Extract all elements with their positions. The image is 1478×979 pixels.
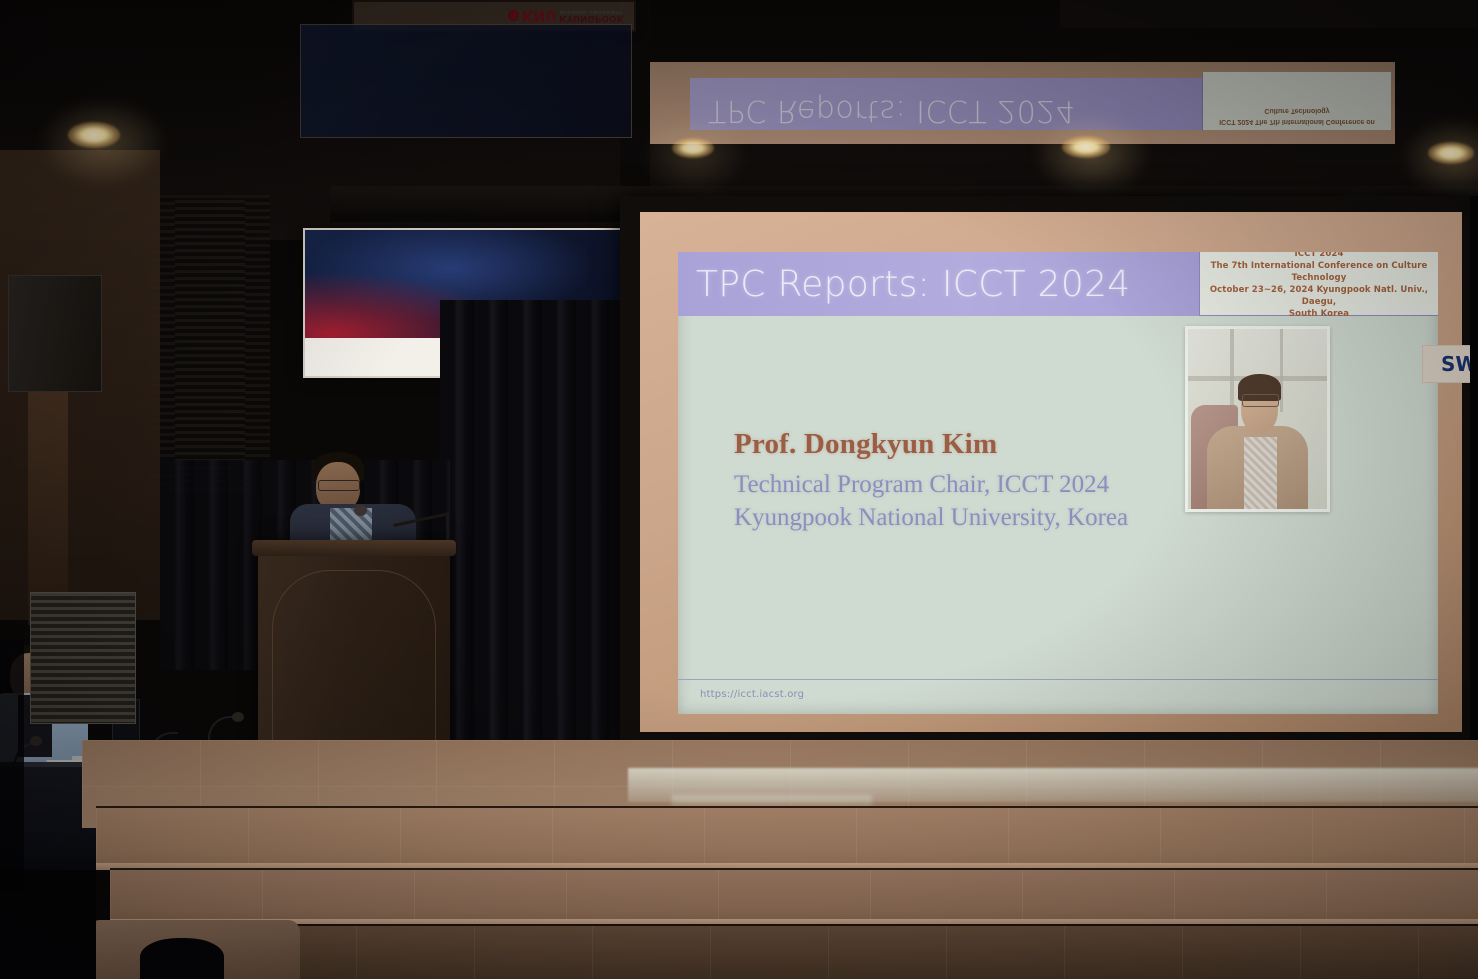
conf-line-3: Technology — [1292, 272, 1347, 284]
ceiling-spotlight-3 — [1062, 136, 1110, 158]
presenter-portrait-photo — [1185, 326, 1330, 512]
conf-line-1: ICCT 2024 — [1295, 252, 1344, 260]
reflection-conf-line-1: ICCT 2024 — [1219, 118, 1253, 125]
covered-equipment-opening — [140, 938, 224, 979]
wall-louver-left-inner — [175, 200, 245, 490]
knu-seal-icon — [508, 11, 519, 22]
conf-line-4: October 23~26, 2024 Kyungpook Natl. Univ… — [1203, 284, 1435, 308]
presentation-slide: TPC Reports: ICCT 2024 ICCT 2024 The 7th… — [678, 252, 1438, 714]
left-dark-edge — [0, 640, 24, 890]
stage-step-2 — [110, 868, 1478, 926]
stage-base-panel — [120, 924, 1478, 979]
ceiling-spotlight-2 — [672, 138, 714, 158]
step2-seams — [110, 870, 1478, 926]
slide-footer: https://icct.iacst.org — [678, 679, 1438, 714]
knu-line2-ceiling: NATIONAL UNIVERSITY — [560, 9, 624, 14]
slide-header: TPC Reports: ICCT 2024 ICCT 2024 The 7th… — [678, 252, 1438, 316]
presenter-name: Prof. Dongkyun Kim — [734, 428, 1128, 461]
conf-line-2: The 7th International Conference on Cult… — [1211, 260, 1428, 272]
conference-hall-photo: TPC Reports: ICCT 2024 ICCT 2024 The 7th… — [0, 0, 1478, 979]
presenter-role: Technical Program Chair, ICCT 2024 — [734, 468, 1128, 501]
slide-reflection: TPC Reports: ICCT 2024 ICCT 2024 The 7th… — [650, 62, 1395, 144]
slide-title: TPC Reports: ICCT 2024 — [678, 264, 1131, 305]
podium-top-surface — [252, 540, 456, 556]
reflection-conf-line-3: Technology — [1291, 107, 1330, 114]
panelist-mic-head-icon — [30, 736, 42, 746]
covered-equipment-foreground — [88, 920, 300, 979]
portrait-shirt — [1244, 437, 1277, 509]
step1-seams — [96, 808, 1478, 870]
slide-title-band: TPC Reports: ICCT 2024 — [678, 252, 1199, 316]
base-panel-seams — [120, 926, 1478, 979]
presenter-affiliation: Kyungpook National University, Korea — [734, 501, 1128, 534]
table-mic-head-icon-3 — [232, 712, 244, 722]
portrait-image — [1188, 329, 1327, 509]
ceiling-beam-top-right — [1060, 0, 1478, 28]
portrait-glasses-icon — [1242, 394, 1279, 407]
stage-curtain-left — [440, 300, 640, 762]
loudspeaker — [8, 275, 102, 392]
wood-pillar — [28, 385, 68, 625]
wall-right-edge — [1470, 196, 1478, 756]
ceiling-hanging-banner — [300, 24, 632, 138]
slide-conference-info: ICCT 2024 The 7th International Conferen… — [1199, 252, 1438, 316]
ceiling-spotlight-1 — [68, 122, 120, 148]
stage-step-1 — [96, 806, 1478, 870]
knu-line1-ceiling: KYUNGPOOK — [560, 14, 624, 23]
presenter-text-block: Prof. Dongkyun Kim Technical Program Cha… — [734, 428, 1128, 534]
equipment-rack — [30, 592, 136, 724]
microphone-head-icon — [354, 505, 367, 516]
ceiling-spotlight-4 — [1428, 142, 1474, 164]
speaker-glasses-icon — [318, 480, 360, 491]
slide-footer-url: https://icct.iacst.org — [678, 680, 1438, 700]
knu-wordmark-ceiling: KNU — [522, 9, 557, 24]
slide-body: Prof. Dongkyun Kim Technical Program Cha… — [678, 316, 1438, 714]
